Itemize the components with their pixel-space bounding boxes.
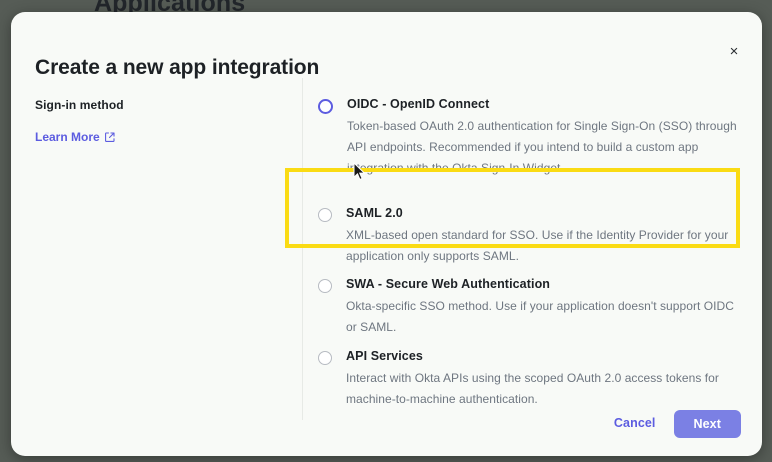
sign-in-method-options: OIDC - OpenID Connect Token-based OAuth …: [303, 92, 762, 410]
dialog-footer: Cancel Next: [11, 410, 762, 456]
option-swa-description: Okta-specific SSO method. Use if your ap…: [346, 296, 742, 338]
radio-api-services[interactable]: [318, 351, 332, 365]
create-app-integration-dialog: × Create a new app integration Sign-in m…: [11, 12, 762, 456]
radio-oidc[interactable]: [318, 99, 333, 114]
option-saml-title: SAML 2.0: [346, 206, 742, 220]
option-api-services-description: Interact with Okta APIs using the scoped…: [346, 368, 742, 410]
option-swa[interactable]: SWA - Secure Web Authentication Okta-spe…: [318, 277, 742, 342]
option-api-services[interactable]: API Services Interact with Okta APIs usi…: [318, 349, 742, 414]
option-swa-title: SWA - Secure Web Authentication: [346, 277, 742, 291]
option-oidc-title: OIDC - OpenID Connect: [347, 97, 742, 111]
option-saml[interactable]: SAML 2.0 XML-based open standard for SSO…: [318, 193, 742, 271]
cancel-button[interactable]: Cancel: [610, 410, 660, 436]
option-saml-description: XML-based open standard for SSO. Use if …: [346, 225, 742, 267]
learn-more-link[interactable]: Learn More: [35, 130, 115, 144]
radio-saml[interactable]: [318, 208, 332, 222]
external-link-icon: [105, 132, 115, 142]
option-oidc[interactable]: OIDC - OpenID Connect Token-based OAuth …: [318, 97, 742, 183]
sign-in-method-label: Sign-in method: [35, 98, 303, 112]
dialog-body: Sign-in method Learn More OIDC - OpenID: [11, 92, 762, 410]
radio-swa[interactable]: [318, 279, 332, 293]
close-icon[interactable]: ×: [724, 41, 744, 61]
learn-more-label: Learn More: [35, 130, 100, 144]
option-oidc-description: Token-based OAuth 2.0 authentication for…: [347, 116, 742, 179]
next-button[interactable]: Next: [674, 410, 742, 438]
sign-in-method-panel: Sign-in method Learn More: [11, 92, 303, 410]
option-api-services-title: API Services: [346, 349, 742, 363]
dialog-title: Create a new app integration: [35, 56, 319, 80]
